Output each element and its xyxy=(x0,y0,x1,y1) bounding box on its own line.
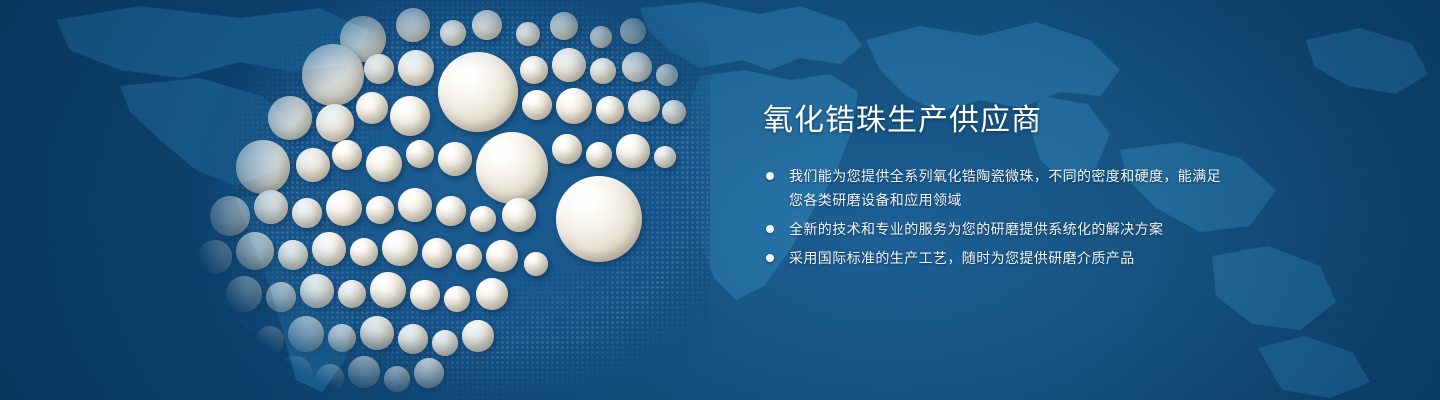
list-item-label: 全新的技术和专业的服务为您的研磨提供系统化的解决方案 xyxy=(789,217,1233,241)
bead-cluster xyxy=(150,0,710,400)
bullet-dot-icon xyxy=(766,172,774,180)
banner-content: 氧化锆珠生产供应商 我们能为您提供全系列氧化锆陶瓷微珠，不同的密度和硬度，能满足… xyxy=(763,104,1233,275)
list-item: 全新的技术和专业的服务为您的研磨提供系统化的解决方案 xyxy=(763,217,1233,241)
list-item-label: 采用国际标准的生产工艺，随时为您提供研磨介质产品 xyxy=(789,246,1233,270)
feature-list: 我们能为您提供全系列氧化锆陶瓷微珠，不同的密度和硬度，能满足您各类研磨设备和应用… xyxy=(763,164,1233,270)
list-item-label: 我们能为您提供全系列氧化锆陶瓷微珠，不同的密度和硬度，能满足您各类研磨设备和应用… xyxy=(789,164,1233,212)
list-item: 采用国际标准的生产工艺，随时为您提供研磨介质产品 xyxy=(763,246,1233,270)
list-item: 我们能为您提供全系列氧化锆陶瓷微珠，不同的密度和硬度，能满足您各类研磨设备和应用… xyxy=(763,164,1233,212)
hero-banner: 氧化锆珠生产供应商 我们能为您提供全系列氧化锆陶瓷微珠，不同的密度和硬度，能满足… xyxy=(0,0,1440,400)
bullet-dot-icon xyxy=(766,225,774,233)
banner-headline: 氧化锆珠生产供应商 xyxy=(763,104,1233,138)
zirconia-beads-photo xyxy=(150,0,710,400)
bullet-dot-icon xyxy=(766,254,774,262)
